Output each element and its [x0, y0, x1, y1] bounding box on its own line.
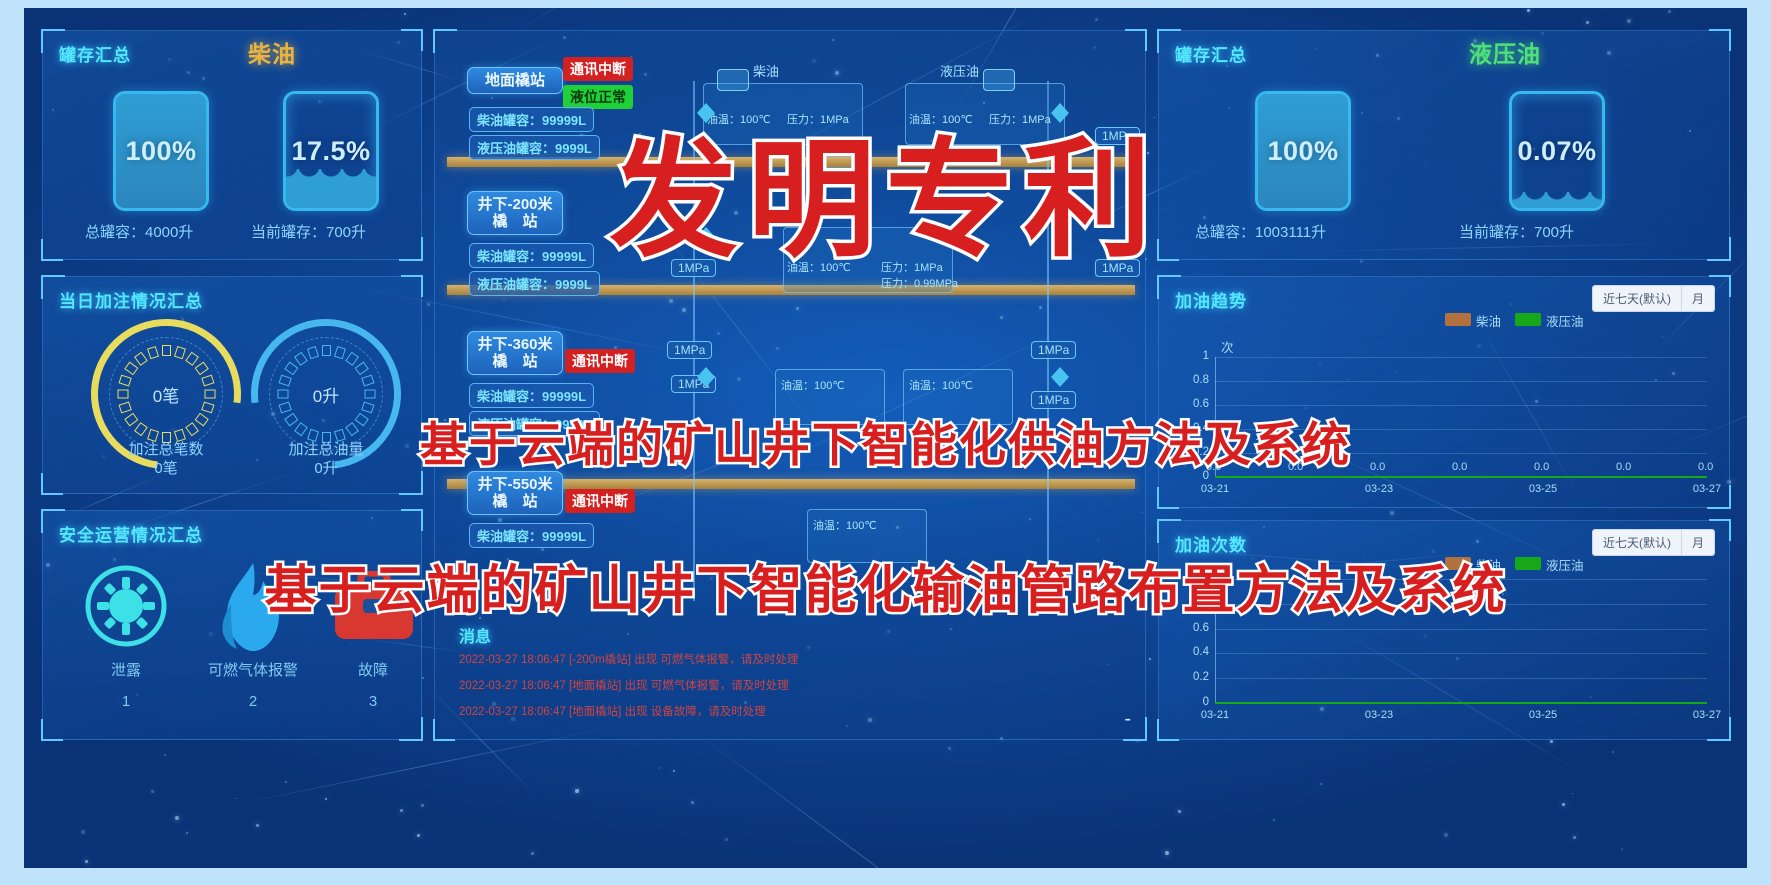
y-tick-label: 0.8 [1183, 374, 1209, 386]
diagram-hydraulic-label: 液压油 [940, 61, 979, 80]
right-current-tank-gauge: 0.07% [1509, 91, 1605, 211]
message-row-0: 2022-03-27 18:06:47 [-200m橇站] 出现 可燃气体报警，… [459, 651, 798, 667]
legend-swatch-diesel [1445, 313, 1471, 326]
station-name-2: 井下-360米 橇 站 [467, 331, 563, 375]
message-row-1: 2022-03-27 18:06:47 [地面橇站] 出现 可燃气体报警，请及时… [459, 677, 789, 693]
outer-frame: 罐存汇总 柴油 100% 总罐容：4000升 17.5% 当前罐存：700升 当… [0, 0, 1771, 885]
legend-swatch-hydraulic [1515, 313, 1541, 326]
right-tank-panel-title: 罐存汇总 [1175, 41, 1247, 66]
watermark-line-1: 基于云端的矿山井下智能化供油方法及系统 [420, 406, 1351, 475]
x-tick-label: 03-27 [1685, 709, 1729, 721]
station-field-1-1: 液压油罐容：9999L [469, 271, 600, 296]
legend-label-diesel: 柴油 [1476, 315, 1501, 329]
left-refuel-panel: 当日加注情况汇总 0笔 加注总笔数 0笔 0升 加注总油量 0升 [42, 276, 422, 494]
station-field-0-0: 柴油罐容：99999L [469, 107, 594, 132]
count-range-buttons[interactable]: 近七天(默认) 月 [1592, 529, 1715, 556]
safety-item-value-0: 1 [81, 693, 171, 710]
refuel-count-caption-label: 加注总笔数 [128, 441, 203, 458]
pressure-tag-4: 1MPa [1031, 341, 1076, 359]
safety-item-value-1: 2 [183, 693, 323, 710]
count-range-week[interactable]: 近七天(默认) [1593, 530, 1682, 555]
station-name-3: 井下-550米 橇 站 [467, 471, 563, 515]
left-total-tank-caption: 总罐容：4000升 [85, 221, 193, 242]
watermark-line-2: 基于云端的矿山井下智能化输油管路布置方法及系统 [264, 548, 1506, 623]
safety-item-value-2: 3 [318, 693, 428, 710]
safety-item-label-1: 可燃气体报警 [183, 659, 323, 680]
left-safety-panel-title: 安全运营情况汇总 [59, 521, 203, 546]
left-safety-panel: 安全运营情况汇总 [42, 510, 422, 740]
tanklet-0 [717, 69, 749, 91]
refuel-count-caption-value: 0笔 [154, 460, 177, 477]
left-tank-product-label: 柴油 [248, 35, 296, 69]
watermark-title: 发明专利 [609, 96, 1161, 281]
dashboard-screen: 罐存汇总 柴油 100% 总罐容：4000升 17.5% 当前罐存：700升 当… [24, 8, 1747, 868]
right-total-tank-percent: 100% [1258, 94, 1348, 208]
safety-item-label-0: 泄露 [81, 659, 171, 680]
left-current-tank-caption: 当前罐存：700升 [251, 221, 366, 242]
left-current-tank-gauge: 17.5% [283, 91, 379, 211]
left-total-tank-percent: 100% [116, 94, 206, 208]
y-tick-label: 0 [1183, 696, 1209, 708]
readout-9: 油温：100℃ [909, 377, 973, 393]
message-panel-title: 消息 [459, 623, 491, 647]
station-badge-0-0: 通讯中断 [563, 57, 633, 81]
x-tick-label: 03-23 [1357, 709, 1401, 721]
zoom-out-button[interactable]: - [1124, 708, 1131, 731]
legend-label-hydraulic: 液压油 [1546, 315, 1584, 329]
x-tick-label: 03-27 [1685, 483, 1729, 495]
station-name-1: 井下-200米 橇 站 [467, 191, 563, 235]
readout-10: 油温：100℃ [813, 517, 877, 533]
x-tick-label: 03-23 [1357, 483, 1401, 495]
left-tank-summary-panel: 罐存汇总 柴油 100% 总罐容：4000升 17.5% 当前罐存：700升 [42, 30, 422, 260]
refuel-trend-title: 加油趋势 [1175, 287, 1247, 312]
y-tick-label: 1 [1183, 350, 1209, 362]
station-badge-3-0: 通讯中断 [565, 489, 635, 513]
right-tank-summary-panel: 罐存汇总 液压油 100% 总罐容：1003111升 0.07% 当前罐存：70… [1158, 30, 1730, 260]
left-tank-panel-title: 罐存汇总 [59, 41, 131, 66]
count-range-month[interactable]: 月 [1682, 530, 1714, 555]
right-total-tank-gauge: 100% [1255, 91, 1351, 211]
station-field-1-0: 柴油罐容：99999L [469, 243, 594, 268]
station-badge-2-0: 通讯中断 [565, 349, 635, 373]
legend-swatch-hydraulic-2 [1515, 557, 1541, 570]
trend-y-unit: 次 [1221, 337, 1234, 356]
trend-range-week[interactable]: 近七天(默认) [1593, 286, 1682, 311]
safety-item-label-2: 故障 [318, 659, 428, 680]
left-refuel-panel-title: 当日加注情况汇总 [59, 287, 203, 312]
message-row-2: 2022-03-27 18:06:47 [地面橇站] 出现 设备故障，请及时处理 [459, 703, 766, 719]
diagram-diesel-label: 柴油 [753, 61, 779, 80]
station-field-3-0: 柴油罐容：99999L [469, 523, 594, 548]
y-tick-label: 0.6 [1183, 622, 1209, 634]
refuel-volume-caption-value: 0升 [314, 460, 337, 477]
y-tick-label: 0.2 [1183, 671, 1209, 683]
right-current-tank-percent: 0.07% [1512, 94, 1602, 208]
left-total-tank-gauge: 100% [113, 91, 209, 211]
trend-range-month[interactable]: 月 [1682, 286, 1714, 311]
legend-label-hydraulic-2: 液压油 [1546, 559, 1584, 573]
readout-8: 油温：100℃ [781, 377, 845, 393]
right-tank-product-label: 液压油 [1469, 35, 1541, 69]
x-tick-label: 03-21 [1193, 483, 1237, 495]
station-field-0-1: 液压油罐容：9999L [469, 135, 600, 160]
station-field-2-0: 柴油罐容：99999L [469, 383, 594, 408]
x-tick-label: 03-21 [1193, 709, 1237, 721]
refuel-volume-caption-label: 加注总油量 [288, 441, 363, 458]
x-tick-label: 03-25 [1521, 483, 1565, 495]
gear-alert-icon [83, 563, 169, 654]
trend-range-buttons[interactable]: 近七天(默认) 月 [1592, 285, 1715, 312]
trend-legend: 柴油 液压油 [1445, 311, 1584, 331]
y-tick-label: 0.4 [1183, 646, 1209, 658]
right-current-tank-caption: 当前罐存：700升 [1459, 221, 1574, 242]
station-name-0: 地面橇站 [467, 67, 563, 94]
x-tick-label: 03-25 [1521, 709, 1565, 721]
right-total-tank-caption: 总罐容：1003111升 [1195, 221, 1326, 242]
left-current-tank-percent: 17.5% [286, 94, 376, 208]
pressure-tag-3: 1MPa [667, 341, 712, 359]
tanklet-1 [983, 69, 1015, 91]
